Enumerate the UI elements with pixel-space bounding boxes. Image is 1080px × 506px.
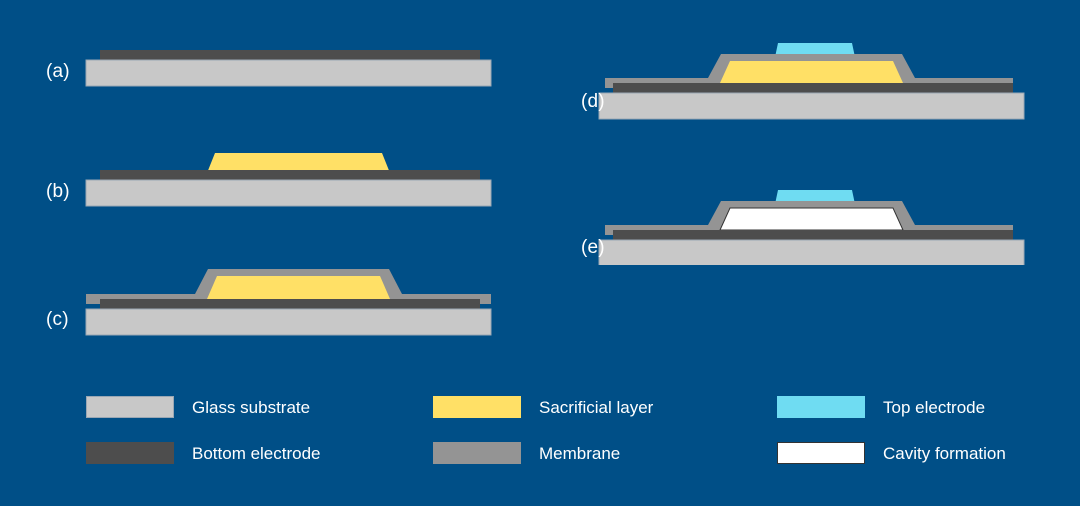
legend-label-sacrificial-layer: Sacrificial layer: [539, 399, 653, 416]
glass-substrate-layer: [86, 309, 491, 335]
sacrificial-layer-shape: [207, 276, 390, 299]
legend: Glass substrate Bottom electrode Sacrifi…: [0, 383, 1080, 483]
legend-item-glass-substrate: Glass substrate: [86, 395, 310, 419]
legend-swatch-cavity-formation: [777, 442, 865, 464]
panel-a: (a): [40, 40, 510, 100]
glass-substrate-layer: [599, 93, 1024, 119]
legend-item-membrane: Membrane: [433, 441, 620, 465]
panel-c-diagram: [40, 255, 510, 340]
legend-label-membrane: Membrane: [539, 445, 620, 462]
legend-column-3: Top electrode Cavity formation: [777, 383, 1080, 483]
sacrificial-layer-shape: [720, 61, 903, 83]
legend-label-top-electrode: Top electrode: [883, 399, 985, 416]
legend-swatch-sacrificial-layer: [433, 396, 521, 418]
legend-item-bottom-electrode: Bottom electrode: [86, 441, 321, 465]
legend-swatch-bottom-electrode: [86, 442, 174, 464]
panel-c: (c): [40, 255, 510, 340]
bottom-electrode-layer: [100, 170, 480, 180]
legend-label-bottom-electrode: Bottom electrode: [192, 445, 321, 462]
panel-c-label: (c): [46, 310, 69, 329]
bottom-electrode-layer: [613, 83, 1013, 93]
panel-b-diagram: [40, 140, 510, 210]
legend-item-sacrificial-layer: Sacrificial layer: [433, 395, 653, 419]
legend-column-2: Sacrificial layer Membrane: [433, 383, 773, 483]
cavity-shape: [720, 208, 903, 230]
legend-item-top-electrode: Top electrode: [777, 395, 985, 419]
panel-e-diagram: [575, 180, 1035, 265]
glass-substrate-layer: [86, 180, 491, 206]
panel-d-diagram: [575, 30, 1035, 125]
panel-a-diagram: [40, 40, 510, 100]
panel-e-label: (e): [581, 238, 605, 257]
legend-label-cavity-formation: Cavity formation: [883, 445, 1006, 462]
process-flow-figure: (a) (b) (c) (d): [0, 0, 1080, 506]
glass-substrate-layer: [599, 240, 1024, 265]
legend-swatch-glass-substrate: [86, 396, 174, 418]
panel-d-label: (d): [581, 92, 605, 111]
bottom-electrode-layer: [100, 299, 480, 309]
glass-substrate-layer: [86, 60, 491, 86]
panel-b: (b): [40, 140, 510, 210]
legend-swatch-membrane: [433, 442, 521, 464]
panel-b-label: (b): [46, 182, 70, 201]
legend-column-1: Glass substrate Bottom electrode: [86, 383, 426, 483]
panel-d: (d): [575, 30, 1035, 125]
legend-item-cavity-formation: Cavity formation: [777, 441, 1006, 465]
bottom-electrode-layer: [100, 50, 480, 60]
legend-label-glass-substrate: Glass substrate: [192, 399, 310, 416]
legend-swatch-top-electrode: [777, 396, 865, 418]
panel-a-label: (a): [46, 62, 70, 81]
bottom-electrode-layer: [613, 230, 1013, 240]
panel-e: (e): [575, 180, 1035, 265]
